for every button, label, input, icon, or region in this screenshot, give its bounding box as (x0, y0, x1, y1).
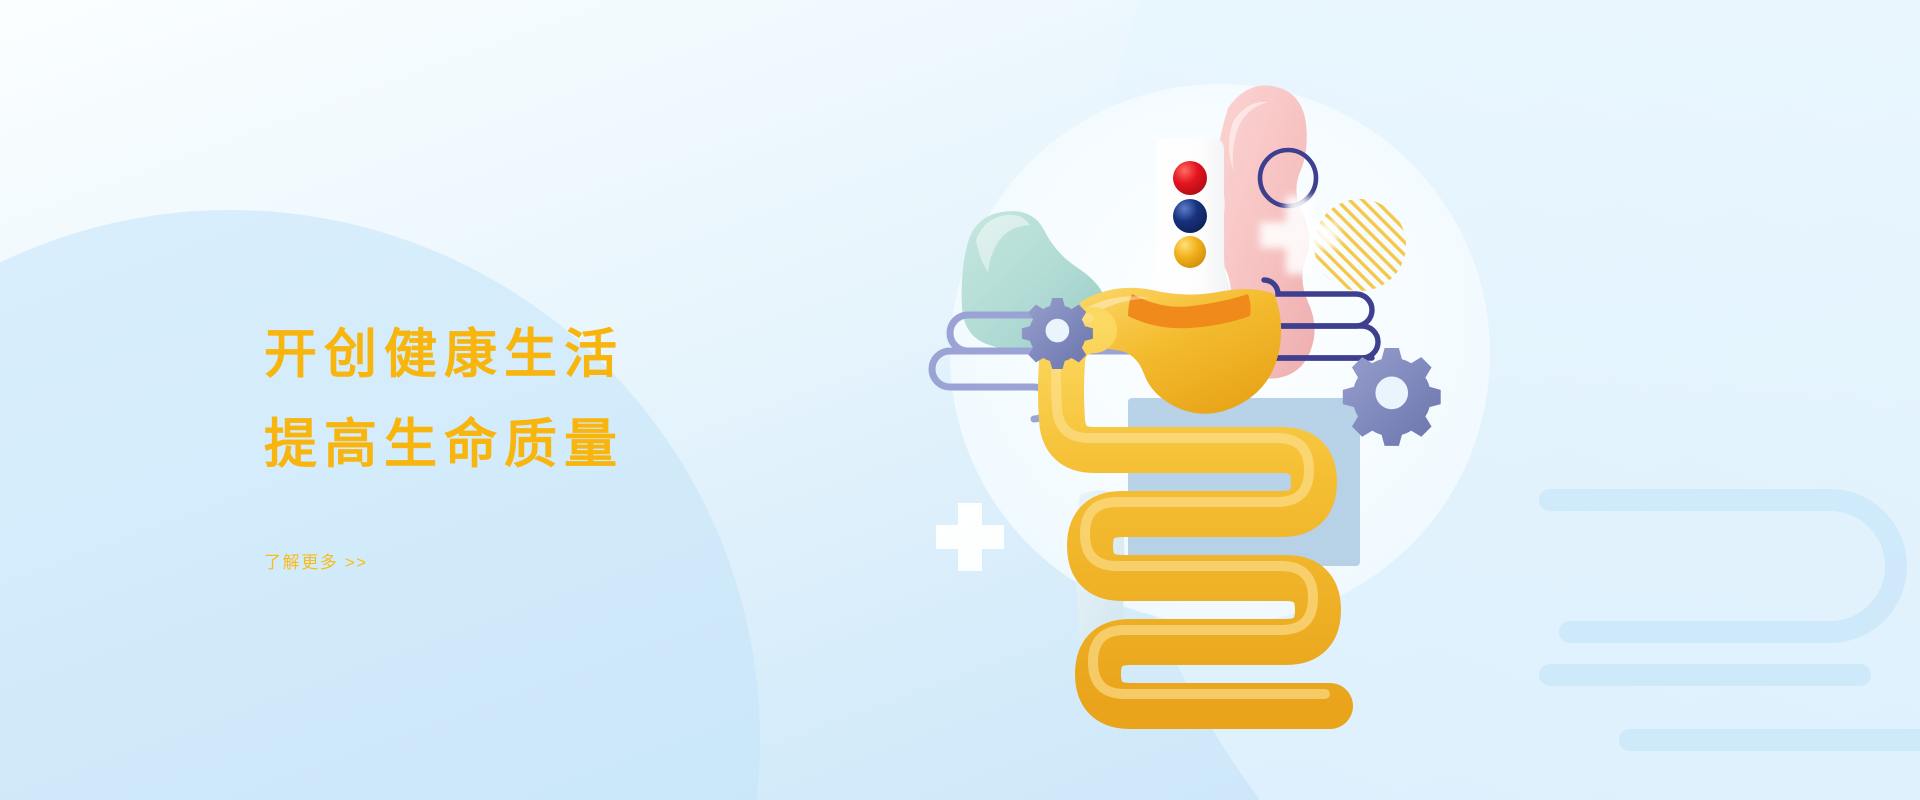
digestive-system-illustration (910, 30, 1610, 730)
page-title-line-1: 开创健康生活 (264, 312, 904, 398)
illustration-container (910, 30, 1610, 730)
gear-small-icon (1022, 298, 1093, 369)
pill-navy (1173, 199, 1207, 233)
pill-yellow (1174, 236, 1206, 268)
learn-more-link[interactable]: 了解更多 >> (264, 548, 368, 573)
pill-red (1173, 161, 1207, 195)
hero-copy: 开创健康生活 提高生命质量 了解更多 >> (264, 312, 904, 573)
page-title-line-2: 提高生命质量 (264, 402, 904, 488)
cross-bottom-icon (936, 503, 1004, 571)
gear-large-icon (1343, 348, 1441, 446)
hero-banner: 开创健康生活 提高生命质量 了解更多 >> (0, 0, 1920, 800)
